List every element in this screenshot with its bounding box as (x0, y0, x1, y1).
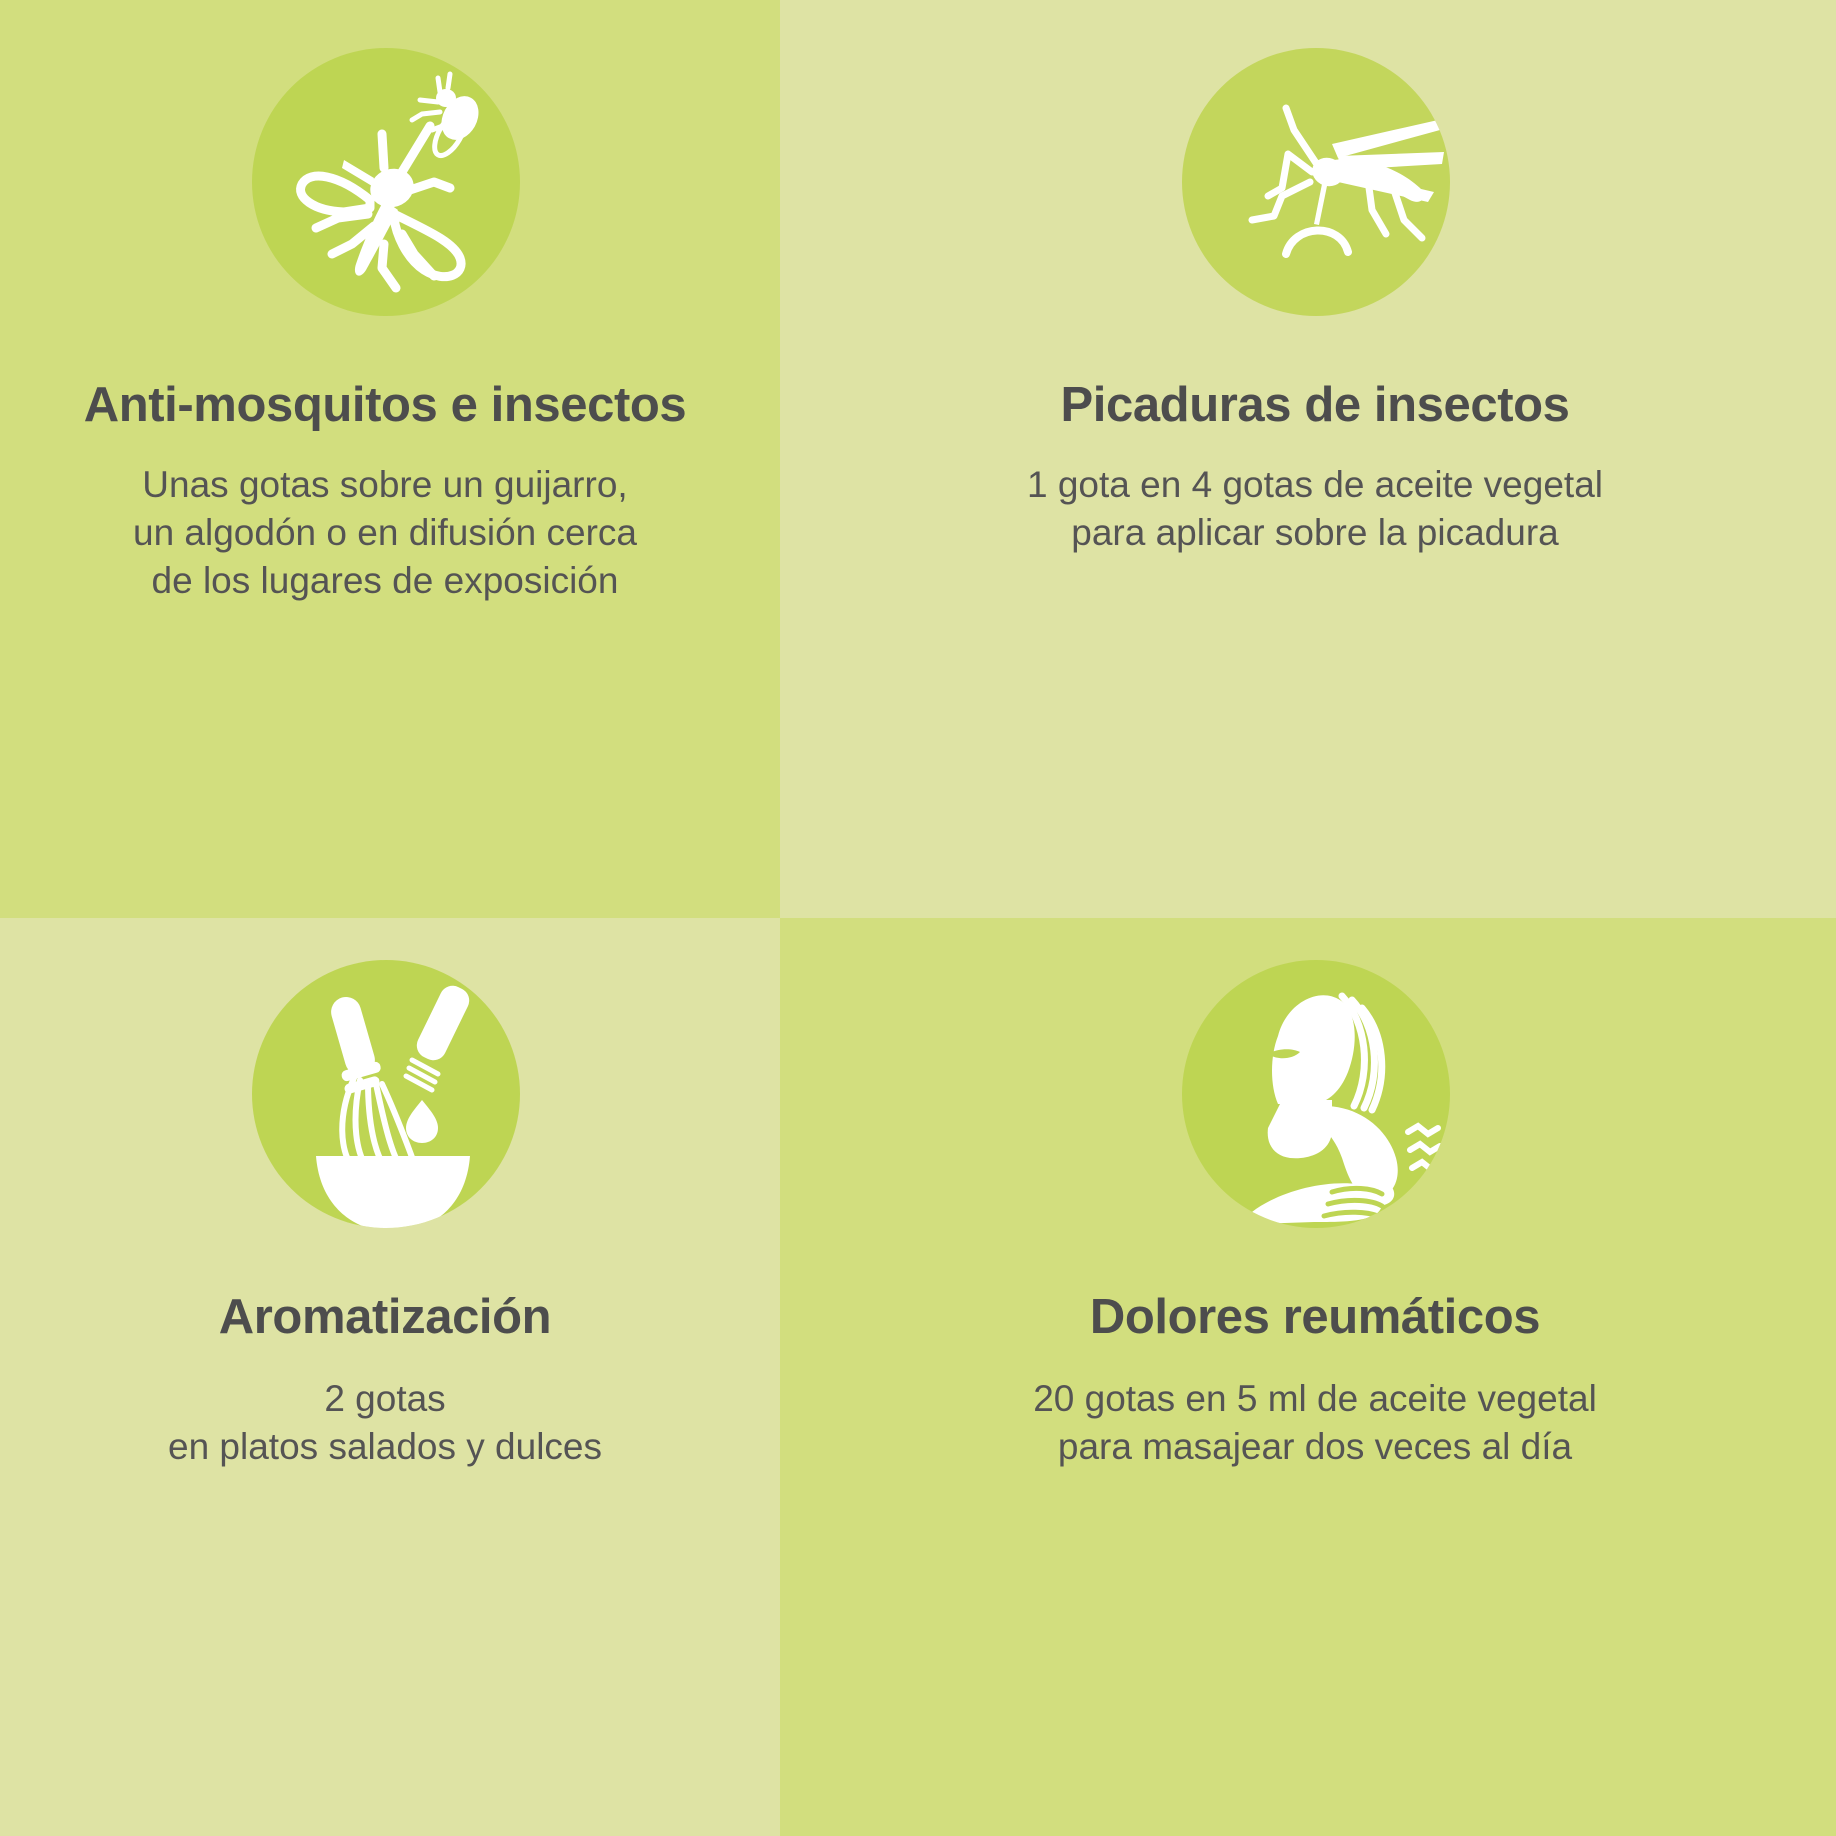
panel-picaduras: Picaduras de insectos 1 gota en 4 gotas … (780, 0, 1836, 918)
panel-description: 2 gotas en platos salados y dulces (168, 1375, 602, 1471)
panel-anti-mosquitos: Anti-mosquitos e insectos Unas gotas sob… (0, 0, 780, 918)
panel-title: Picaduras de insectos (1060, 378, 1569, 433)
panel-title: Dolores reumáticos (1090, 1290, 1540, 1345)
panel-title: Aromatización (219, 1290, 551, 1345)
panel-dolores: Dolores reumáticos 20 gotas en 5 ml de a… (780, 918, 1836, 1836)
panel-title: Anti-mosquitos e insectos (84, 378, 687, 433)
panel-description: Unas gotas sobre un guijarro, un algodón… (133, 461, 637, 605)
usage-grid: Anti-mosquitos e insectos Unas gotas sob… (0, 0, 1836, 1836)
panel-description: 20 gotas en 5 ml de aceite vegetal para … (1033, 1375, 1597, 1471)
mosquito-and-fly-icon (252, 48, 520, 316)
mosquito-biting-skin-icon (1182, 48, 1450, 316)
woman-rubbing-arm-icon (1182, 960, 1450, 1228)
panel-description: 1 gota en 4 gotas de aceite vegetal para… (1027, 461, 1603, 557)
whisk-bowl-dropper-icon (252, 960, 520, 1228)
panel-aromatizacion: Aromatización 2 gotas en platos salados … (0, 918, 780, 1836)
